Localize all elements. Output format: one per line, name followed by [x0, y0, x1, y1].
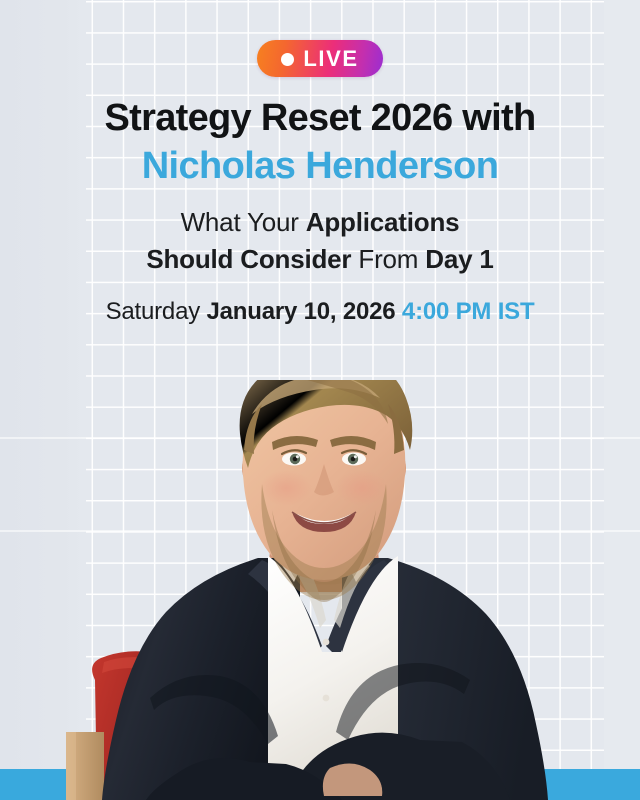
webinar-promo-poster: LIVE Strategy Reset 2026 with Nicholas H…	[0, 0, 640, 800]
headline-block: Strategy Reset 2026 with Nicholas Hender…	[0, 96, 640, 326]
page-title: Strategy Reset 2026 with	[0, 96, 640, 140]
event-weekday: Saturday	[106, 298, 207, 325]
subtitle-line-1-bold: Applications	[306, 207, 460, 237]
event-datetime: Saturday January 10, 2026 4:00 PM IST	[0, 298, 640, 326]
event-date: January 10, 2026	[207, 298, 396, 325]
live-dot-icon	[281, 53, 294, 66]
subtitle-line-2-bold-2: Day 1	[425, 244, 493, 274]
subtitle: What Your Applications Should Consider F…	[0, 204, 640, 278]
subtitle-line-1: What Your Applications	[0, 204, 640, 241]
subtitle-line-2: Should Consider From Day 1	[0, 241, 640, 278]
subtitle-line-1-regular: What Your	[181, 207, 306, 237]
event-time: 4:00 PM IST	[395, 298, 534, 325]
live-badge: LIVE	[257, 40, 383, 77]
live-badge-label: LIVE	[303, 48, 358, 70]
subtitle-line-2-bold: Should Consider	[146, 244, 351, 274]
speaker-photo	[0, 380, 640, 800]
speaker-name: Nicholas Henderson	[0, 144, 640, 188]
subtitle-line-2-regular: From	[351, 244, 425, 274]
